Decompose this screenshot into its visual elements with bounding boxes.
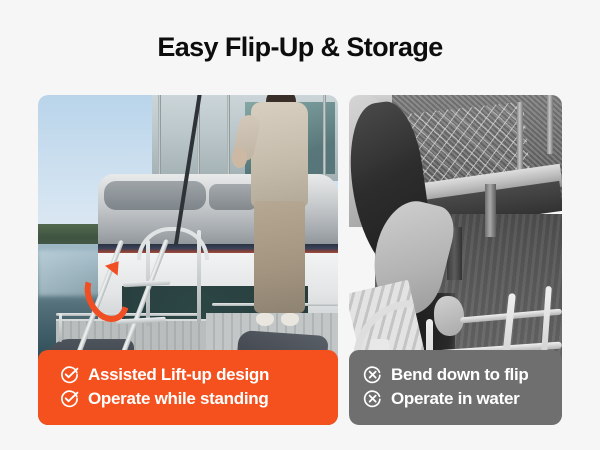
seat-cushion [104,181,206,211]
check-circle-icon [60,365,79,384]
panel-left[interactable]: Assisted Lift-up design Operate while st… [38,95,338,425]
dock-piling [485,184,496,237]
x-circle-icon [363,389,382,408]
page-title: Easy Flip-Up & Storage [0,32,600,63]
check-circle-icon [60,389,79,408]
x-circle-icon [363,365,382,384]
caption-negative: Bend down to flip Operate in water [349,350,562,425]
caption-item: Bend down to flip [363,363,562,387]
panel-right[interactable]: Bend down to flip Operate in water [349,95,562,425]
person-pants [254,201,305,313]
caption-item-label: Assisted Lift-up design [88,363,269,387]
caption-item: Operate in water [363,387,562,411]
caption-item: Assisted Lift-up design [60,363,338,387]
person-foot [281,313,299,326]
caption-item: Operate while standing [60,387,338,411]
dock-post [517,102,523,175]
panel-row: Assisted Lift-up design Operate while st… [38,95,562,425]
dock-post [547,95,553,154]
caption-item-label: Operate while standing [88,387,268,411]
person-shirt [251,102,308,208]
boat-railing [59,313,62,343]
caption-item-label: Bend down to flip [391,363,528,387]
person-hand [232,148,247,168]
ladder-step [116,317,166,325]
person-foot [256,313,274,326]
woman-hand [434,296,464,336]
caption-item-label: Operate in water [391,387,519,411]
seat-cushion [209,184,257,210]
comparison-card: Easy Flip-Up & Storage [0,0,600,450]
caption-positive: Assisted Lift-up design Operate while st… [38,350,338,425]
ladder-step [123,280,170,287]
